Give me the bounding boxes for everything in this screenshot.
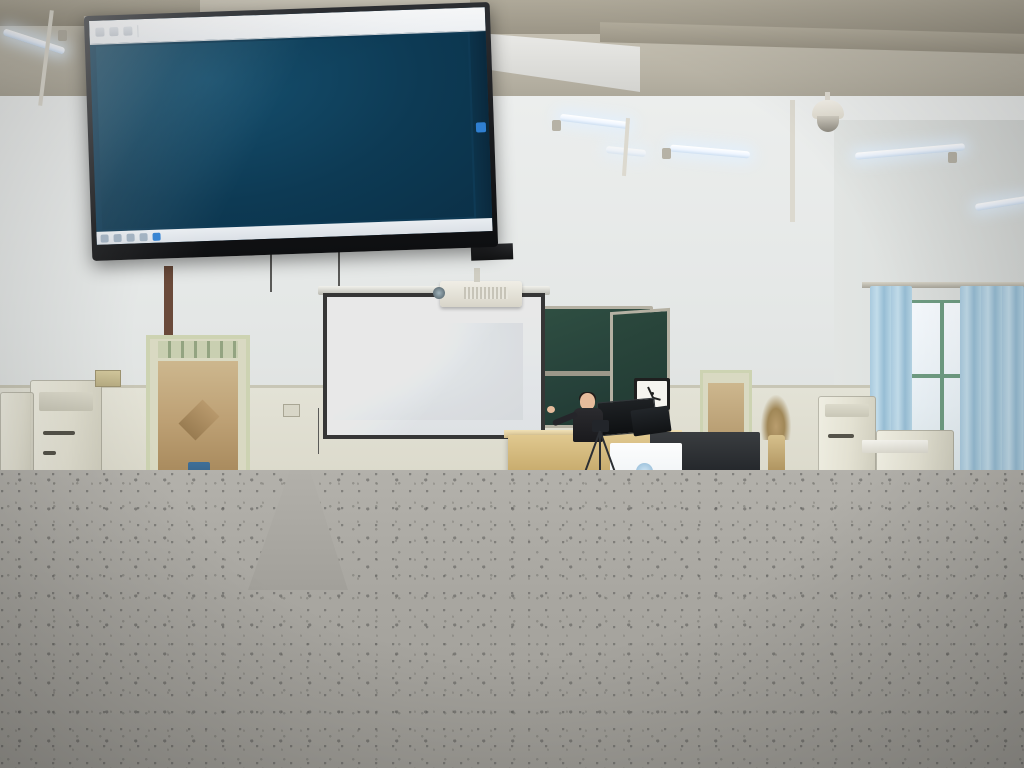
tv-screen[interactable] [89,7,493,245]
ceiling-pipe [790,100,795,222]
start-icon[interactable] [100,234,108,242]
podium-monitor-secondary [630,405,671,436]
paper-stack [862,440,928,453]
save-icon[interactable] [95,27,104,36]
ceiling-projector [440,281,522,307]
door-transom [158,341,238,358]
projected-slide [333,323,523,420]
projector-lens-icon [433,287,445,299]
presentation-icon[interactable] [152,232,160,240]
browser-icon[interactable] [139,233,147,241]
tv-bezel [84,2,498,261]
hanging-wire [338,252,340,286]
classroom-door[interactable] [146,335,250,475]
classroom-photo [0,0,1024,768]
classroom-floor [0,470,1024,768]
dried-flower-arrangement [758,395,794,477]
projector-mount [474,268,480,282]
wall-outlet[interactable] [283,404,300,417]
light-bracket [58,30,67,41]
wall-notice-board [95,370,121,387]
door-ornament [178,399,219,440]
door-panel[interactable] [158,361,238,471]
search-icon[interactable] [113,233,121,241]
light-bracket [662,148,671,159]
undo-icon[interactable] [109,27,118,36]
projector-vent [464,287,508,299]
light-bracket [948,152,957,163]
wall-pipe [164,266,173,344]
slide-canvas [96,34,474,230]
hanging-wire [318,408,319,454]
smart-tv[interactable] [84,2,498,261]
projection-screen [323,293,545,439]
floor-standing-air-conditioner[interactable] [818,396,876,478]
pen-icon[interactable] [476,122,486,132]
task-view-icon[interactable] [126,233,134,241]
curtain-right[interactable] [960,286,1024,498]
redo-icon[interactable] [123,26,132,35]
light-bracket [552,120,561,131]
